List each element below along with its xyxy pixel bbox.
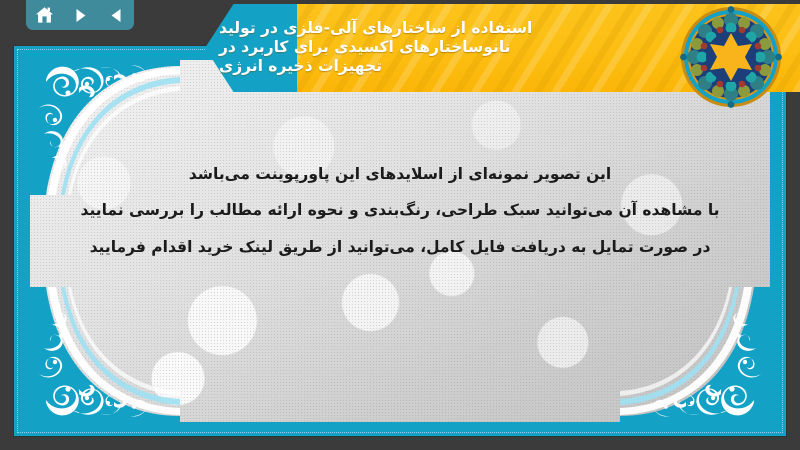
title-line-3: تجهیزات ذخیره انرژی: [219, 58, 382, 76]
home-button[interactable]: [31, 3, 57, 27]
prev-triangle-icon: [108, 7, 125, 24]
home-icon: [35, 6, 54, 24]
slide-content-area: این تصویر نمونه‌ای از اسلایدهای این پاور…: [30, 60, 770, 422]
body-line-3: در صورت تمایل به دریافت فایل کامل، می‌تو…: [52, 229, 748, 265]
title-line-2: نانوساختارهای اکسیدی برای کاربرد در: [219, 39, 510, 57]
prev-slide-button[interactable]: [103, 3, 129, 27]
slide-stage: این تصویر نمونه‌ای از اسلایدهای این پاور…: [0, 0, 800, 450]
persian-medallion-ornament: [680, 6, 782, 108]
slide-frame: این تصویر نمونه‌ای از اسلایدهای این پاور…: [14, 46, 786, 436]
next-slide-button[interactable]: [67, 3, 93, 27]
slide-navigation-bar: [26, 0, 134, 30]
body-line-1: این تصویر نمونه‌ای از اسلایدهای این پاور…: [52, 156, 748, 192]
arabesque-corner-bottom-left: [30, 287, 180, 422]
next-triangle-icon: [72, 7, 89, 24]
body-line-2: با مشاهده آن می‌توانید سبک طراحی، رنگ‌بن…: [52, 192, 748, 228]
slide-body-text: این تصویر نمونه‌ای از اسلایدهای این پاور…: [30, 156, 770, 265]
title-line-1: استفاده از ساختارهای آلی-فلزی در تولید: [219, 20, 532, 38]
arabesque-corner-bottom-right: [620, 287, 770, 422]
